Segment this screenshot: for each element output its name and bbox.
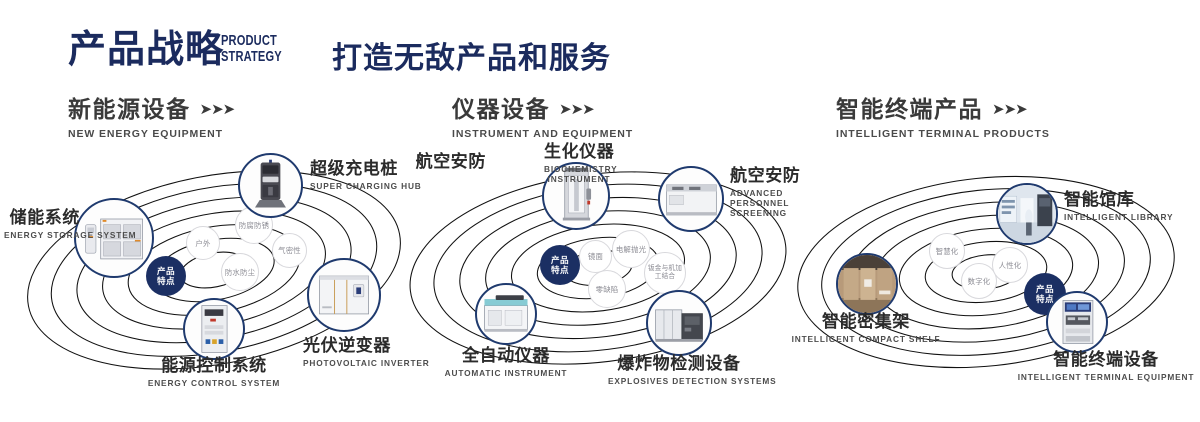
chevron-triple-icon: ➤➤➤	[200, 97, 235, 123]
section-heading-en: INTELLIGENT TERMINAL PRODUCTS	[836, 128, 1050, 140]
page-title-english-line1: PRODUCT	[221, 33, 274, 49]
product-label-automatic-instrument: 全自动仪器 AUTOMATIC INSTRUMENT	[436, 346, 576, 379]
feature-bubble-3: 气密性	[272, 233, 307, 268]
page-header: 产品战略 PRODUCT STRATEGY 打造无敌产品和服务	[0, 0, 1200, 86]
product-label-en: EXPLOSIVES DETECTION SYSTEMS	[608, 376, 750, 387]
product-circle-intelligent-terminal-equipment[interactable]	[1046, 291, 1108, 353]
section-heading-cn: 智能终端产品➤➤➤	[836, 96, 1050, 123]
core-bubble-line2: 特点	[157, 276, 175, 286]
control-rack-icon	[185, 300, 243, 358]
product-label-intelligent-compact-shelf: 智能密集架 INTELLIGENT COMPACT SHELF	[786, 312, 946, 344]
product-label-aviation-security-left: 航空安防	[402, 152, 486, 172]
feature-bubble-0: 智慧化	[929, 233, 965, 269]
product-label-cn: 航空安防	[402, 152, 486, 172]
product-label-cn: 生化仪器	[544, 142, 614, 162]
product-circle-intelligent-library[interactable]	[996, 183, 1058, 245]
product-label-energy-control-system: 能源控制系统 ENERGY CONTROL SYSTEM	[124, 356, 304, 389]
cluster-instrument: 产品特点 镜面 电解抛光 零缺陷 钣金与机加工结合 生化仪器 BIOCHEMIS…	[408, 150, 808, 410]
product-label-cn: 智能馆库	[1064, 190, 1184, 210]
core-bubble-line1: 产品	[551, 255, 569, 265]
product-label-cn: 储能系统	[4, 208, 80, 228]
product-label-cn: 能源控制系统	[124, 356, 304, 376]
core-bubble: 产品特点	[146, 256, 186, 296]
product-strategy-infographic: 产品战略 PRODUCT STRATEGY 打造无敌产品和服务 新能源设备➤➤➤…	[0, 0, 1200, 422]
section-heading-cn-text: 仪器设备	[452, 96, 550, 122]
page-title-english: PRODUCT STRATEGY	[221, 33, 274, 65]
cluster-new-energy: 产品特点 户外 防腐防锈 防水防尘 气密性 储能系统 ENERGY STORAG…	[18, 150, 418, 410]
product-circle-advanced-personnel-screening[interactable]	[658, 166, 724, 232]
section-heading-cn: 仪器设备➤➤➤	[452, 96, 633, 123]
product-label-en: BIOCHEMISTRY INSTRUMENT	[544, 164, 614, 184]
compact-shelf-icon	[838, 255, 896, 313]
kiosk-terminal-icon	[1048, 293, 1106, 351]
product-label-en: SUPER CHARGING HUB	[310, 181, 420, 192]
product-label-biochemistry-instrument: 生化仪器 BIOCHEMISTRY INSTRUMENT	[544, 142, 614, 184]
detection-unit-icon	[648, 292, 710, 354]
feature-bubble-2: 防水防尘	[221, 253, 259, 291]
product-label-en: AUTOMATIC INSTRUMENT	[436, 368, 576, 379]
section-heading-cn-text: 新能源设备	[68, 96, 191, 122]
product-circle-explosives-detection-systems[interactable]	[646, 290, 712, 356]
product-label-intelligent-library: 智能馆库 INTELLIGENT LIBRARY	[1064, 190, 1184, 223]
section-heading-new-energy: 新能源设备➤➤➤ NEW ENERGY EQUIPMENT	[68, 96, 234, 140]
inverter-cabinet-icon	[309, 260, 379, 330]
product-circle-intelligent-compact-shelf[interactable]	[836, 253, 898, 315]
feature-bubble-3: 钣金与机加工结合	[644, 252, 686, 294]
product-label-en: INTELLIGENT LIBRARY	[1064, 212, 1184, 223]
charging-pile-icon	[240, 155, 301, 216]
product-label-energy-storage-system: 储能系统 ENERGY STORAGE SYSTEM	[4, 208, 80, 241]
product-label-en: ENERGY CONTROL SYSTEM	[124, 378, 304, 389]
chevron-triple-icon: ➤➤➤	[559, 97, 594, 123]
product-label-cn: 智能终端设备	[1016, 350, 1196, 370]
core-bubble-line1: 产品	[157, 266, 175, 276]
core-bubble-line2: 特点	[551, 265, 569, 275]
page-title-english-line2: STRATEGY	[221, 49, 274, 65]
product-label-cn: 爆炸物检测设备	[608, 354, 750, 374]
feature-bubble-0: 镜面	[579, 240, 612, 273]
feature-bubble-0: 户外	[186, 226, 220, 260]
product-label-en: INTELLIGENT TERMINAL EQUIPMENT	[1016, 372, 1196, 383]
core-bubble-text: 产品特点	[551, 255, 569, 276]
core-bubble-text: 产品特点	[157, 266, 175, 287]
product-label-cn: 智能密集架	[786, 312, 946, 332]
product-label-en: ENERGY STORAGE SYSTEM	[4, 230, 80, 241]
core-bubble-line1: 产品	[1036, 284, 1054, 294]
page-title: 产品战略	[68, 28, 224, 72]
page-subtitle: 打造无敌产品和服务	[332, 33, 611, 77]
cluster-intelligent-terminal: 智慧化 数字化 人性化 产品特点 智能馆库 INTELLIG	[796, 150, 1196, 410]
screening-machine-icon	[660, 168, 722, 230]
product-circle-energy-control-system[interactable]	[183, 298, 245, 360]
chevron-triple-icon: ➤➤➤	[992, 97, 1027, 123]
feature-bubble-2: 零缺陷	[588, 270, 626, 308]
product-circle-automatic-instrument[interactable]	[475, 283, 537, 345]
core-bubble: 产品特点	[540, 245, 580, 285]
product-circle-photovoltaic-inverter[interactable]	[307, 258, 381, 332]
auto-analyzer-icon	[477, 285, 535, 343]
product-label-cn: 全自动仪器	[436, 346, 576, 366]
section-heading-instrument: 仪器设备➤➤➤ INSTRUMENT AND EQUIPMENT	[452, 96, 633, 140]
library-room-icon	[998, 185, 1056, 243]
product-label-en: INTELLIGENT COMPACT SHELF	[786, 334, 946, 344]
product-label-explosives-detection-systems: 爆炸物检测设备 EXPLOSIVES DETECTION SYSTEMS	[608, 354, 750, 387]
feature-bubble-2: 人性化	[992, 247, 1028, 283]
section-heading-cn: 新能源设备➤➤➤	[68, 96, 234, 123]
section-heading-en: NEW ENERGY EQUIPMENT	[68, 128, 234, 140]
product-label-intelligent-terminal-equipment: 智能终端设备 INTELLIGENT TERMINAL EQUIPMENT	[1016, 350, 1196, 383]
product-circle-super-charging-hub[interactable]	[238, 153, 303, 218]
section-heading-en: INSTRUMENT AND EQUIPMENT	[452, 128, 633, 140]
section-heading-intelligent-terminal: 智能终端产品➤➤➤ INTELLIGENT TERMINAL PRODUCTS	[836, 96, 1050, 140]
section-heading-cn-text: 智能终端产品	[836, 96, 983, 122]
feature-bubble-1: 电解抛光	[612, 230, 650, 268]
